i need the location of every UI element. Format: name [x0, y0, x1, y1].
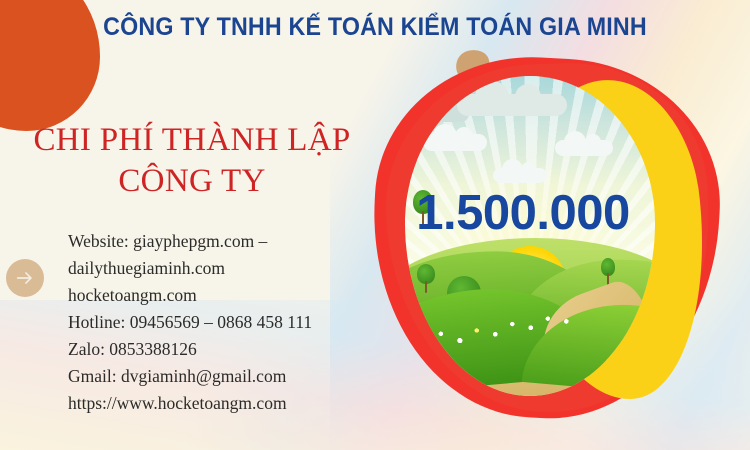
contact-zalo: Zalo: 0853388126: [68, 336, 398, 363]
arrow-right-icon[interactable]: [6, 259, 44, 297]
contact-info-block: Website: giayphepgm.com – dailythuegiami…: [68, 228, 398, 417]
promo-banner: CÔNG TY TNHH KẾ TOÁN KIỂM TOÁN GIA MINH …: [0, 0, 750, 450]
headline-line-2: CÔNG TY: [22, 161, 362, 202]
tree-trunk: [425, 281, 427, 293]
page-title: CÔNG TY TNHH KẾ TOÁN KIỂM TOÁN GIA MINH: [26, 13, 724, 42]
contact-website-line-2: dailythuegiaminh.com: [68, 255, 398, 282]
contact-website-line-1: Website: giayphepgm.com –: [68, 228, 398, 255]
price-amount: 1.500.000: [373, 185, 673, 241]
headline-line-1: CHI PHÍ THÀNH LẬP: [22, 120, 362, 161]
cloud-icon: [493, 168, 547, 183]
cloud-icon: [555, 140, 613, 156]
headline: CHI PHÍ THÀNH LẬP CÔNG TY: [22, 120, 362, 202]
cloud-icon: [457, 94, 567, 116]
contact-gmail: Gmail: dvgiaminh@gmail.com: [68, 363, 398, 390]
contact-url: https://www.hocketoangm.com: [68, 390, 398, 417]
cloud-icon: [423, 134, 487, 151]
contact-website-line-3: hocketoangm.com: [68, 282, 398, 309]
contact-hotline: Hotline: 09456569 – 0868 458 111: [68, 309, 398, 336]
